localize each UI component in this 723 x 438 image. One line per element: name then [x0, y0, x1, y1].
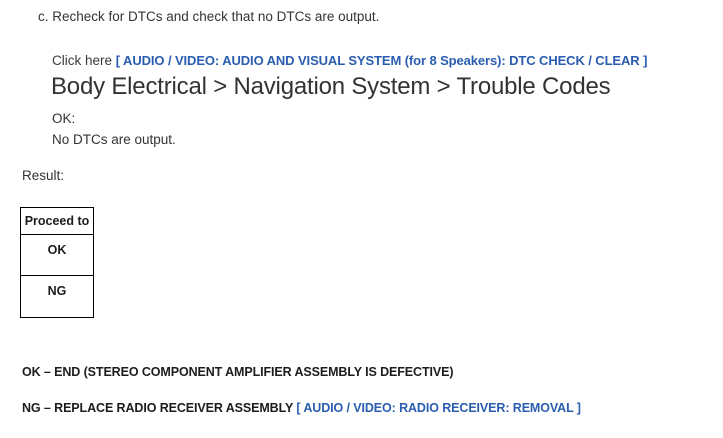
table-row: OK [21, 235, 94, 276]
conclusion-ng: NG – REPLACE RADIO RECEIVER ASSEMBLY [ A… [22, 400, 581, 416]
breadcrumb-heading: Body Electrical > Navigation System > Tr… [51, 72, 610, 101]
table-header-proceed-to: Proceed to [21, 208, 94, 235]
table-cell-ng: NG [21, 276, 94, 318]
result-label: Result: [22, 167, 64, 184]
ok-description: No DTCs are output. [52, 131, 176, 148]
radio-receiver-removal-link[interactable]: [ AUDIO / VIDEO: RADIO RECEIVER: REMOVAL… [296, 401, 580, 415]
conclusion-ok: OK – END (STEREO COMPONENT AMPLIFIER ASS… [22, 364, 453, 380]
step-instruction: c. Recheck for DTCs and check that no DT… [38, 8, 379, 25]
click-here-label: Click here [52, 53, 112, 68]
conclusion-ng-text: NG – REPLACE RADIO RECEIVER ASSEMBLY [22, 401, 296, 415]
dtc-check-clear-link[interactable]: [ AUDIO / VIDEO: AUDIO AND VISUAL SYSTEM… [116, 53, 648, 68]
result-table: Proceed to OK NG [20, 207, 94, 318]
table-row-header: Proceed to [21, 208, 94, 235]
table-row: NG [21, 276, 94, 318]
table-cell-ok: OK [21, 235, 94, 276]
click-here-row: Click here [ AUDIO / VIDEO: AUDIO AND VI… [52, 52, 647, 69]
ok-label: OK: [52, 110, 75, 127]
